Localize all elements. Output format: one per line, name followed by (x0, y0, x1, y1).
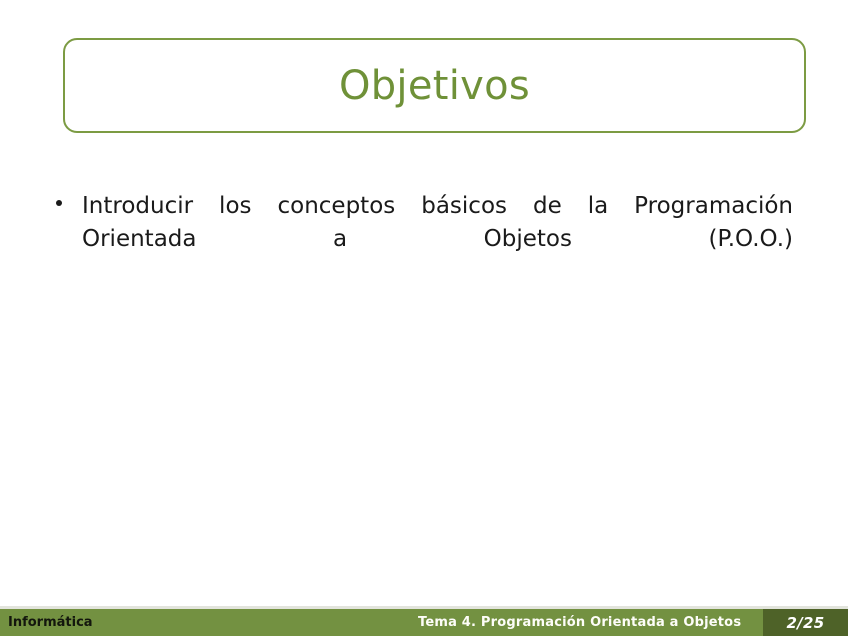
list-item: Introducir los conceptos básicos de la P… (0, 190, 848, 288)
slide-title-box: Objetivos (63, 38, 806, 133)
bullet-text: Introducir los conceptos básicos de la P… (82, 190, 793, 288)
footer-page-box: 2/25 (763, 609, 848, 636)
bullet-list: Introducir los conceptos básicos de la P… (0, 190, 848, 288)
page-number: 2/25 (787, 614, 825, 632)
footer-course-label: Informática (8, 609, 93, 636)
page-title: Objetivos (339, 66, 530, 106)
slide-body: Introducir los conceptos básicos de la P… (0, 190, 848, 600)
slide-footer: Informática Tema 4. Programación Orienta… (0, 609, 848, 636)
footer-topic-label: Tema 4. Programación Orientada a Objetos (418, 609, 741, 636)
bullet-dot-icon (56, 200, 62, 206)
slide-canvas: Objetivos Introducir los conceptos básic… (0, 0, 848, 636)
